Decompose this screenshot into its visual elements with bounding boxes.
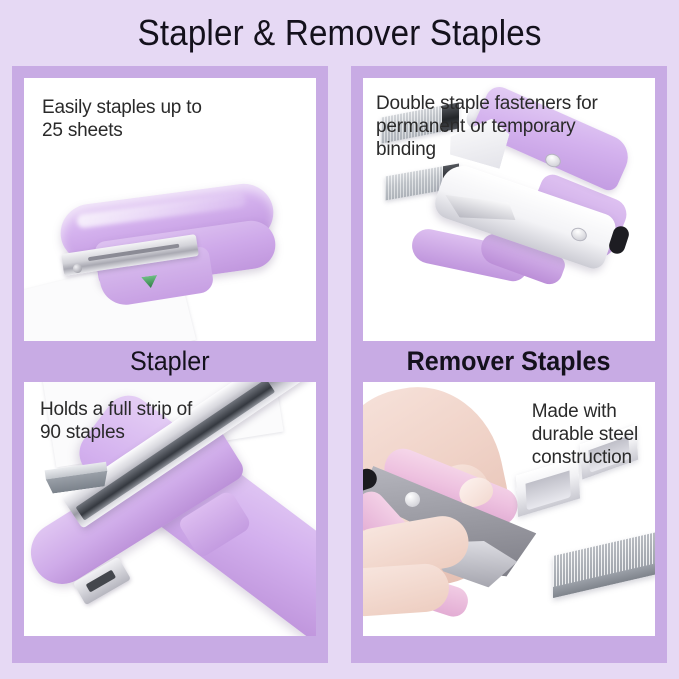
panel-top-left: Easily staples up to 25 sheets — [24, 78, 316, 341]
caption-bottom-right: Made with durable steel construction — [532, 400, 638, 470]
panel-top-right: Double staple fasteners for permanent or… — [363, 78, 655, 341]
panel-bottom-right: Made with durable steel construction — [363, 382, 655, 636]
caption-top-left: Easily staples up to 25 sheets — [42, 96, 202, 142]
caption-bottom-left: Holds a full strip of 90 staples — [40, 398, 192, 444]
product-infographic: Stapler & Remover Staples Easily staples… — [0, 0, 679, 679]
label-remover-staples: Remover Staples — [407, 346, 611, 377]
remover-pivot-dot — [405, 492, 420, 507]
label-band-left: Stapler — [24, 341, 316, 382]
staple-strip — [553, 532, 655, 598]
page-title-text: Stapler & Remover Staples — [137, 12, 541, 54]
u-staple-channel — [525, 470, 571, 510]
label-band-right: Remover Staples — [363, 341, 655, 382]
page-title: Stapler & Remover Staples — [0, 0, 679, 66]
column-remover-staples: Double staple fasteners for permanent or… — [351, 66, 667, 663]
caption-top-right: Double staple fasteners for permanent or… — [376, 92, 598, 162]
label-stapler: Stapler — [130, 346, 210, 377]
panel-bottom-left: Holds a full strip of 90 staples — [24, 382, 316, 636]
column-stapler: Easily staples up to 25 sheets Stapler — [12, 66, 328, 663]
